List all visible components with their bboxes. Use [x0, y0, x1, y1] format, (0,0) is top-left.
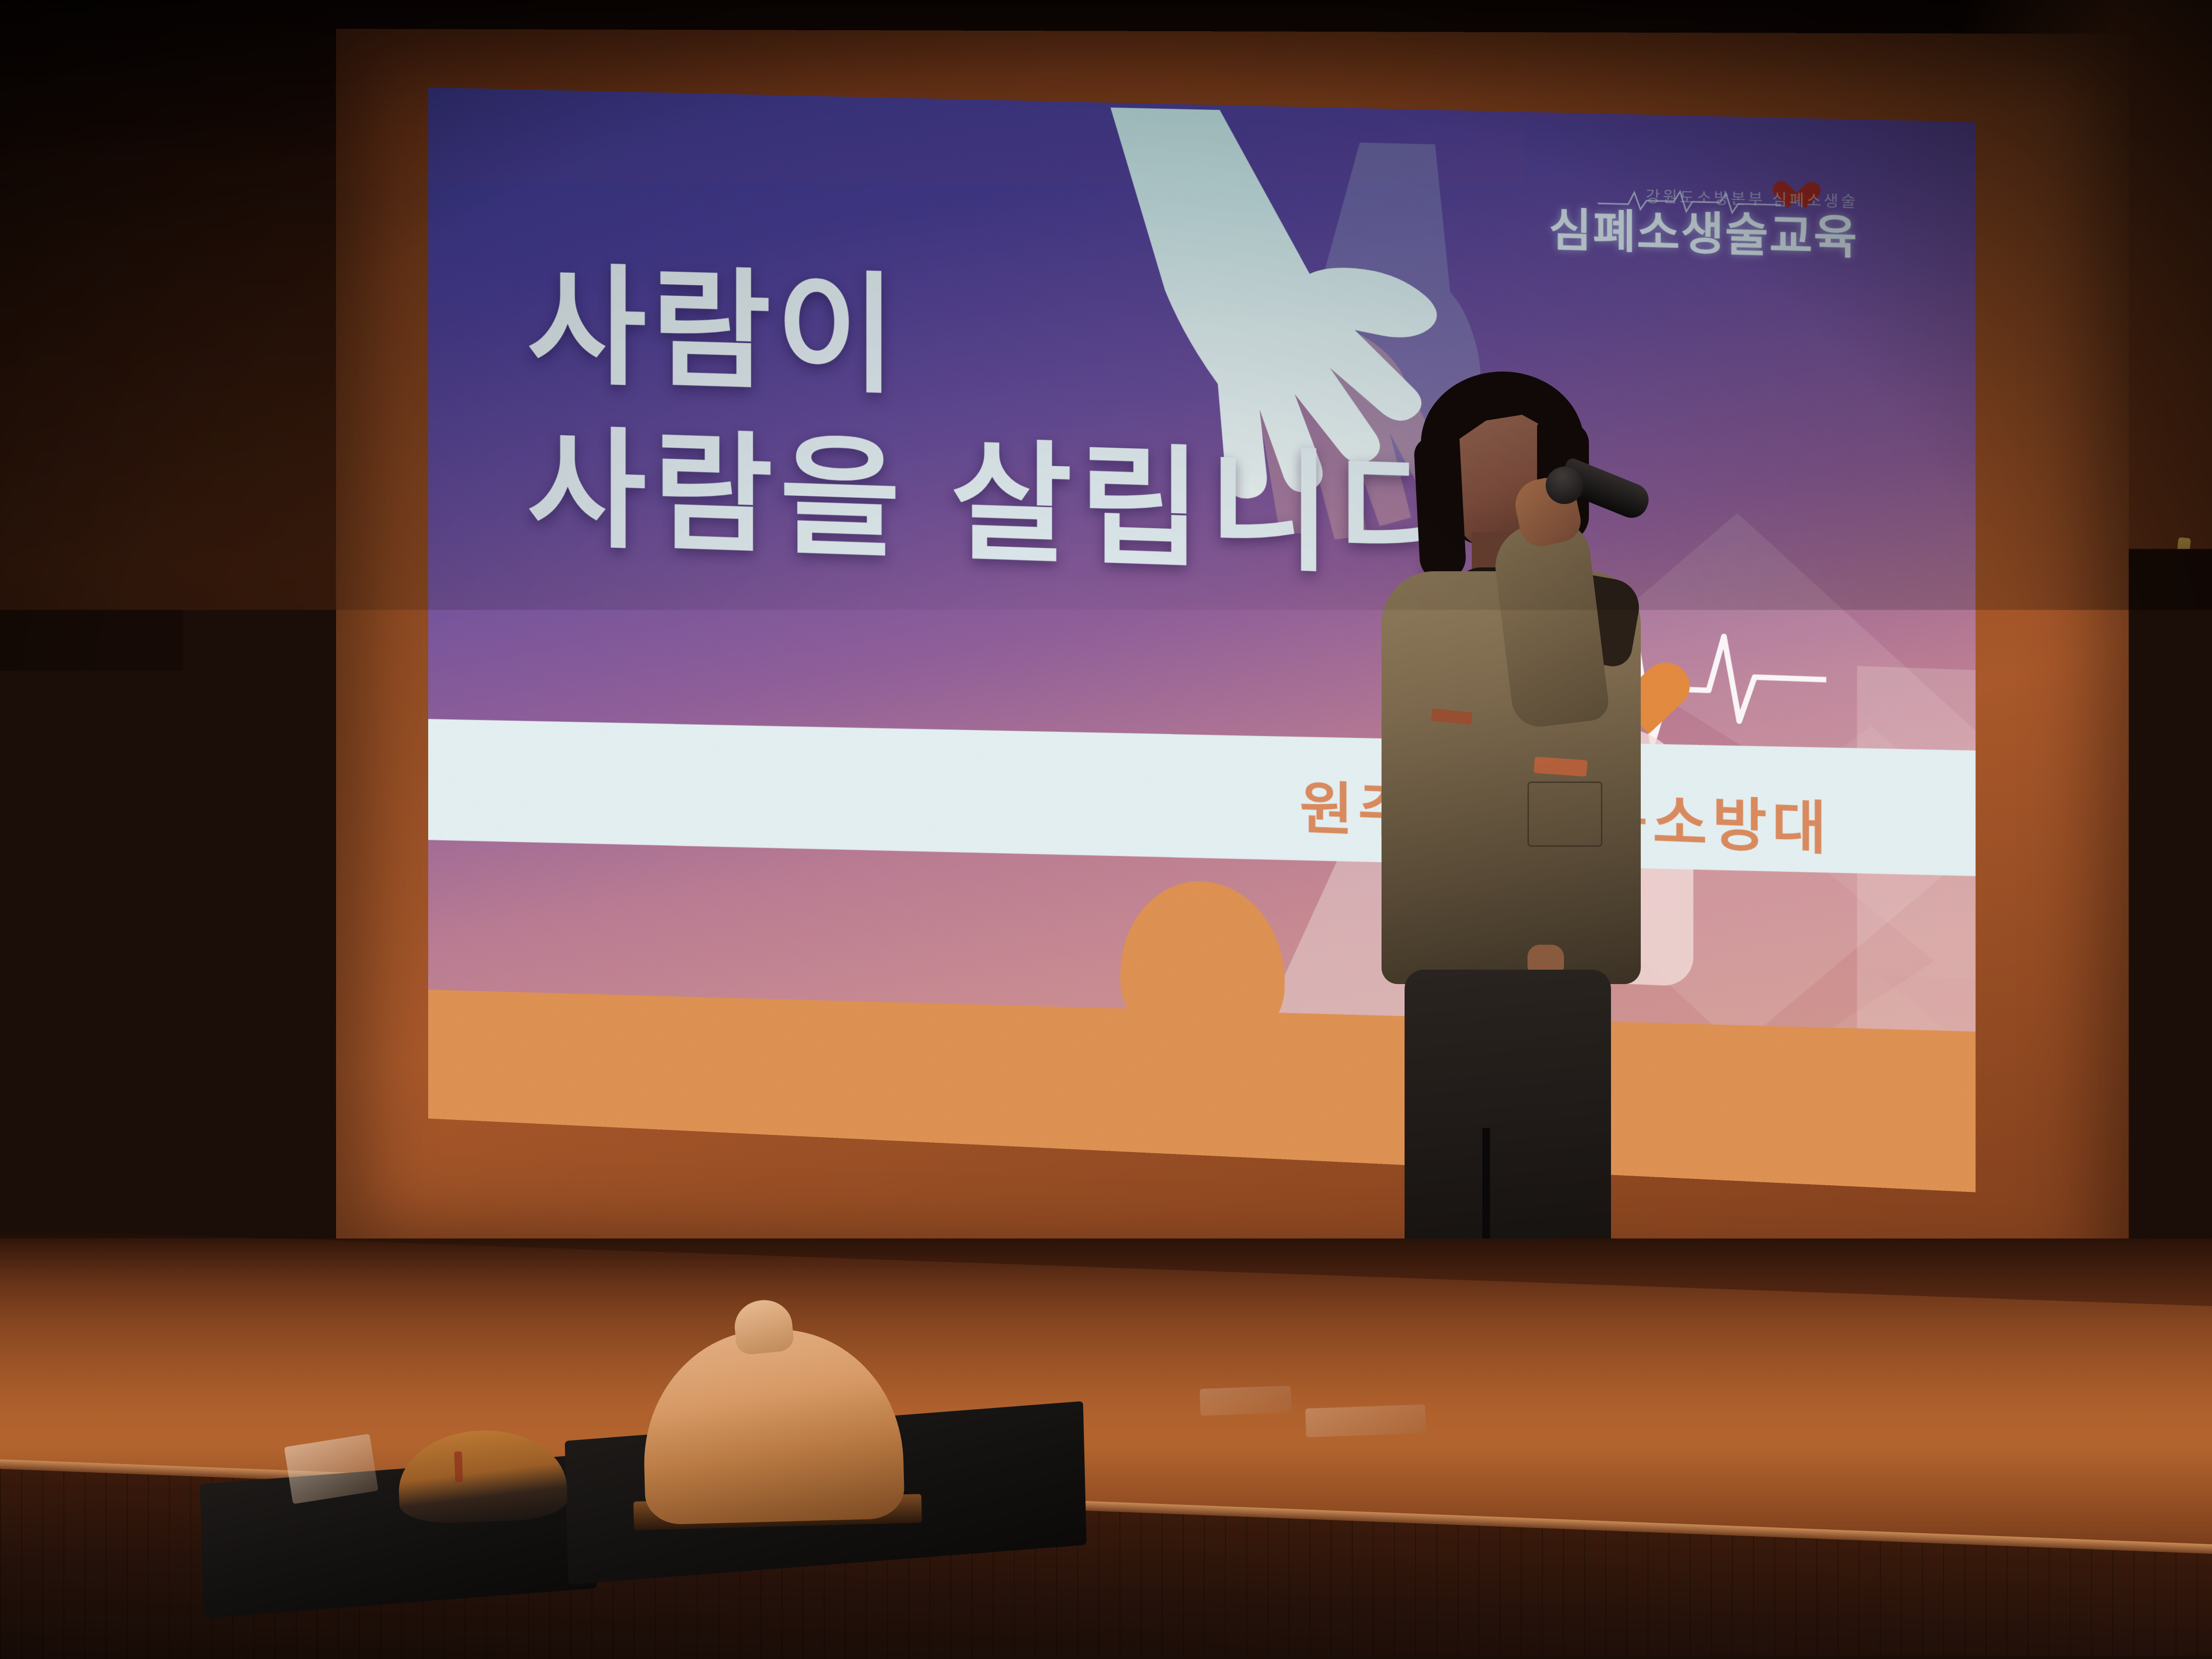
screenshot-root: 강원도소방본부 심폐소생술 심폐소생술교육 사람이 사람을 살립니다 원주흥업의…: [0, 0, 2212, 1659]
flag-emblem-bar: [2183, 634, 2212, 655]
uniform-pocket: [1527, 781, 1602, 847]
paper-sheet: [1200, 1386, 1292, 1416]
flag-text: 소방: [2154, 864, 2186, 918]
projection-grain: [428, 87, 1975, 1192]
paper-sheet: [1305, 1405, 1426, 1438]
projected-slide: 강원도소방본부 심폐소생술 심폐소생술교육 사람이 사람을 살립니다 원주흥업의…: [428, 87, 1975, 1192]
hair-left-strand: [1413, 436, 1467, 582]
